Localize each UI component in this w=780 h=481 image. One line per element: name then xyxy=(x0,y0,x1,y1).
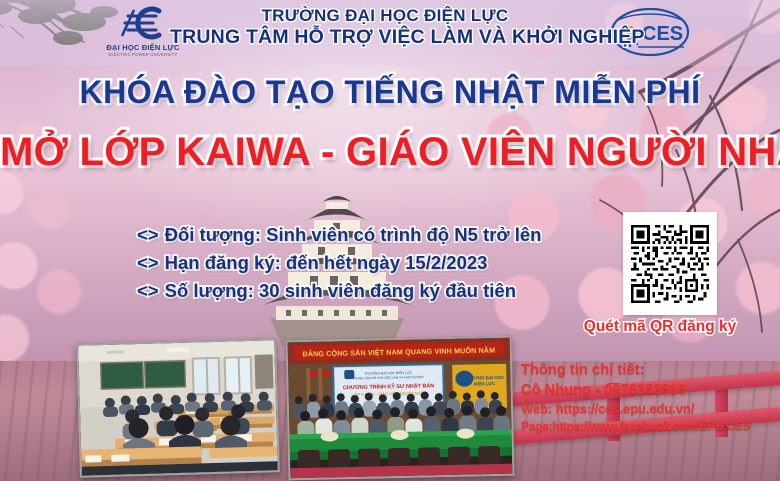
details-list: <>Đối tượng: Sinh viên có trình độ N5 tr… xyxy=(137,221,541,305)
list-item-label: Hạn đăng ký: đến hết ngày 15/2/2023 xyxy=(165,252,488,273)
contact-facebook-page[interactable]: Page:https://www.facebook.com/EPU.CES xyxy=(521,418,779,435)
list-item: <>Số lượng: 30 sinh viên đăng ký đầu tiê… xyxy=(137,277,541,305)
qr-code-icon[interactable] xyxy=(631,225,709,303)
classroom-exam-illustration xyxy=(78,340,278,475)
poster-image: ĐẠI HỌC ĐIỆN LỰC ELECTRIC POWER UNIVERSI… xyxy=(0,0,780,481)
qr-code-panel[interactable] xyxy=(623,212,717,315)
list-item: <>Đối tượng: Sinh viên có trình độ N5 tr… xyxy=(137,221,541,249)
list-item-label: Đối tượng: Sinh viên có trình độ N5 trở … xyxy=(165,224,542,245)
org-line-2: TRUNG TÂM HỖ TRỢ VIỆC LÀM VÀ KHỞI NGHIỆP xyxy=(170,27,600,48)
svg-text:CES: CES xyxy=(642,23,683,45)
contact-info: Thông tin chi tiết: Cô Nhung - 097835381… xyxy=(521,360,779,434)
bullet-marker-icon: <> xyxy=(137,280,159,301)
contact-website[interactable]: Web: https://ces.epu.edu.vn/ xyxy=(521,400,779,418)
epu-logo-subtitle: ELECTRIC POWER UNIVERSITY xyxy=(95,52,191,57)
bullet-marker-icon: <> xyxy=(137,224,159,245)
group-ceremony-photo: ĐẢNG CỘNG SẢN VIỆT NAM QUANG VINH MUÔN N… xyxy=(286,336,515,481)
organization-title: TRƯỜNG ĐẠI HỌC ĐIỆN LỰC TRUNG TÂM HỖ TRỢ… xyxy=(170,7,600,48)
classroom-exam-photo xyxy=(76,338,280,478)
svg-text:ĐIỆN LỰC: ĐIỆN LỰC xyxy=(474,381,496,386)
bullet-marker-icon: <> xyxy=(137,252,159,273)
headline-secondary: MỞ LỚP KAIWA - GIÁO VIÊN NGƯỜI NHẬT xyxy=(0,130,780,175)
group-ceremony-illustration: ĐẢNG CỘNG SẢN VIỆT NAM QUANG VINH MUÔN N… xyxy=(288,338,513,479)
list-item: <>Hạn đăng ký: đến hết ngày 15/2/2023 xyxy=(137,249,541,277)
list-item-label: Số lượng: 30 sinh viên đăng ký đầu tiên xyxy=(165,280,516,301)
svg-text:TRƯỜNG ĐẠI HỌC: TRƯỜNG ĐẠI HỌC xyxy=(465,375,506,381)
headline-primary: KHÓA ĐÀO TẠO TIẾNG NHẬT MIỄN PHÍ xyxy=(0,74,780,111)
contact-person: Cô Nhung - 0978353818 xyxy=(521,380,779,400)
contact-title: Thông tin chi tiết: xyxy=(521,360,779,380)
org-line-1: TRƯỜNG ĐẠI HỌC ĐIỆN LỰC xyxy=(170,7,600,25)
epu-circle-logo-icon xyxy=(112,4,174,42)
qr-caption: Quét mã QR đăng ký xyxy=(540,318,780,336)
